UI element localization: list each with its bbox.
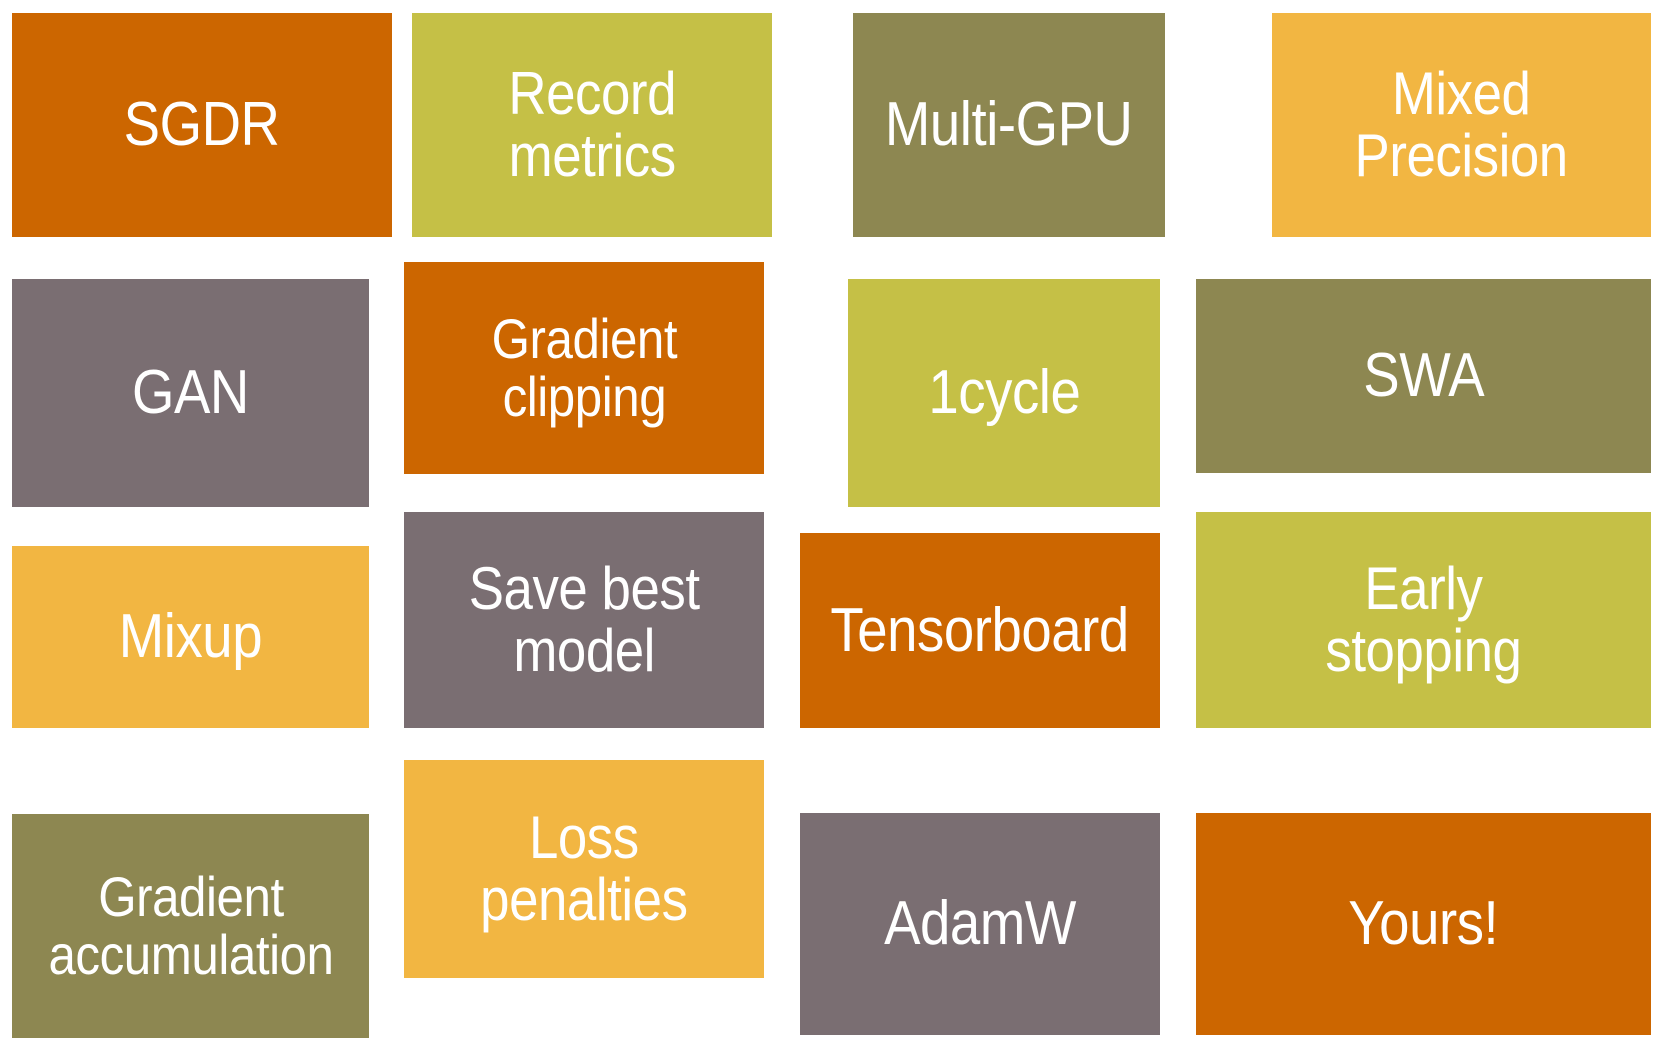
tile-label-tensorboard: Tensorboard: [825, 599, 1134, 663]
tile-label-yours: Yours!: [1343, 892, 1504, 956]
tile-label-gan: GAN: [127, 361, 254, 425]
tile-gan[interactable]: GAN: [12, 279, 369, 507]
tile-mixup[interactable]: Mixup: [12, 546, 369, 728]
tile-label-gradient-accumulation: Gradient accumulation: [43, 868, 339, 983]
tile-label-adamw: AdamW: [879, 892, 1081, 956]
tile-gradient-accumulation[interactable]: Gradient accumulation: [12, 814, 369, 1038]
tile-label-1cycle: 1cycle: [923, 361, 1086, 425]
tile-grid: SGDRRecord metricsMulti-GPUMixed Precisi…: [0, 0, 1669, 1057]
tile-multi-gpu[interactable]: Multi-GPU: [853, 13, 1165, 237]
tile-adamw[interactable]: AdamW: [800, 813, 1160, 1035]
tile-label-early-stopping: Early stopping: [1320, 558, 1527, 682]
tile-label-multi-gpu: Multi-GPU: [880, 93, 1138, 157]
tile-save-best-model[interactable]: Save best model: [404, 512, 764, 728]
tile-sgdr[interactable]: SGDR: [12, 13, 392, 237]
tile-label-mixup: Mixup: [114, 605, 268, 669]
tile-label-gradient-clipping: Gradient clipping: [486, 310, 682, 425]
tile-label-mixed-precision: Mixed Precision: [1350, 63, 1574, 187]
tile-label-record-metrics: Record metrics: [503, 63, 681, 187]
tile-early-stopping[interactable]: Early stopping: [1196, 512, 1651, 728]
tile-label-save-best-model: Save best model: [463, 558, 704, 682]
tile-label-sgdr: SGDR: [119, 93, 285, 157]
tile-yours[interactable]: Yours!: [1196, 813, 1651, 1035]
tile-loss-penalties[interactable]: Loss penalties: [404, 760, 764, 978]
tile-record-metrics[interactable]: Record metrics: [412, 13, 772, 237]
tile-label-loss-penalties: Loss penalties: [475, 807, 693, 931]
tile-1cycle[interactable]: 1cycle: [848, 279, 1160, 507]
tile-swa[interactable]: SWA: [1196, 279, 1651, 473]
tile-tensorboard[interactable]: Tensorboard: [800, 533, 1160, 728]
tile-mixed-precision[interactable]: Mixed Precision: [1272, 13, 1651, 237]
tile-gradient-clipping[interactable]: Gradient clipping: [404, 262, 764, 474]
tile-label-swa: SWA: [1358, 344, 1490, 408]
